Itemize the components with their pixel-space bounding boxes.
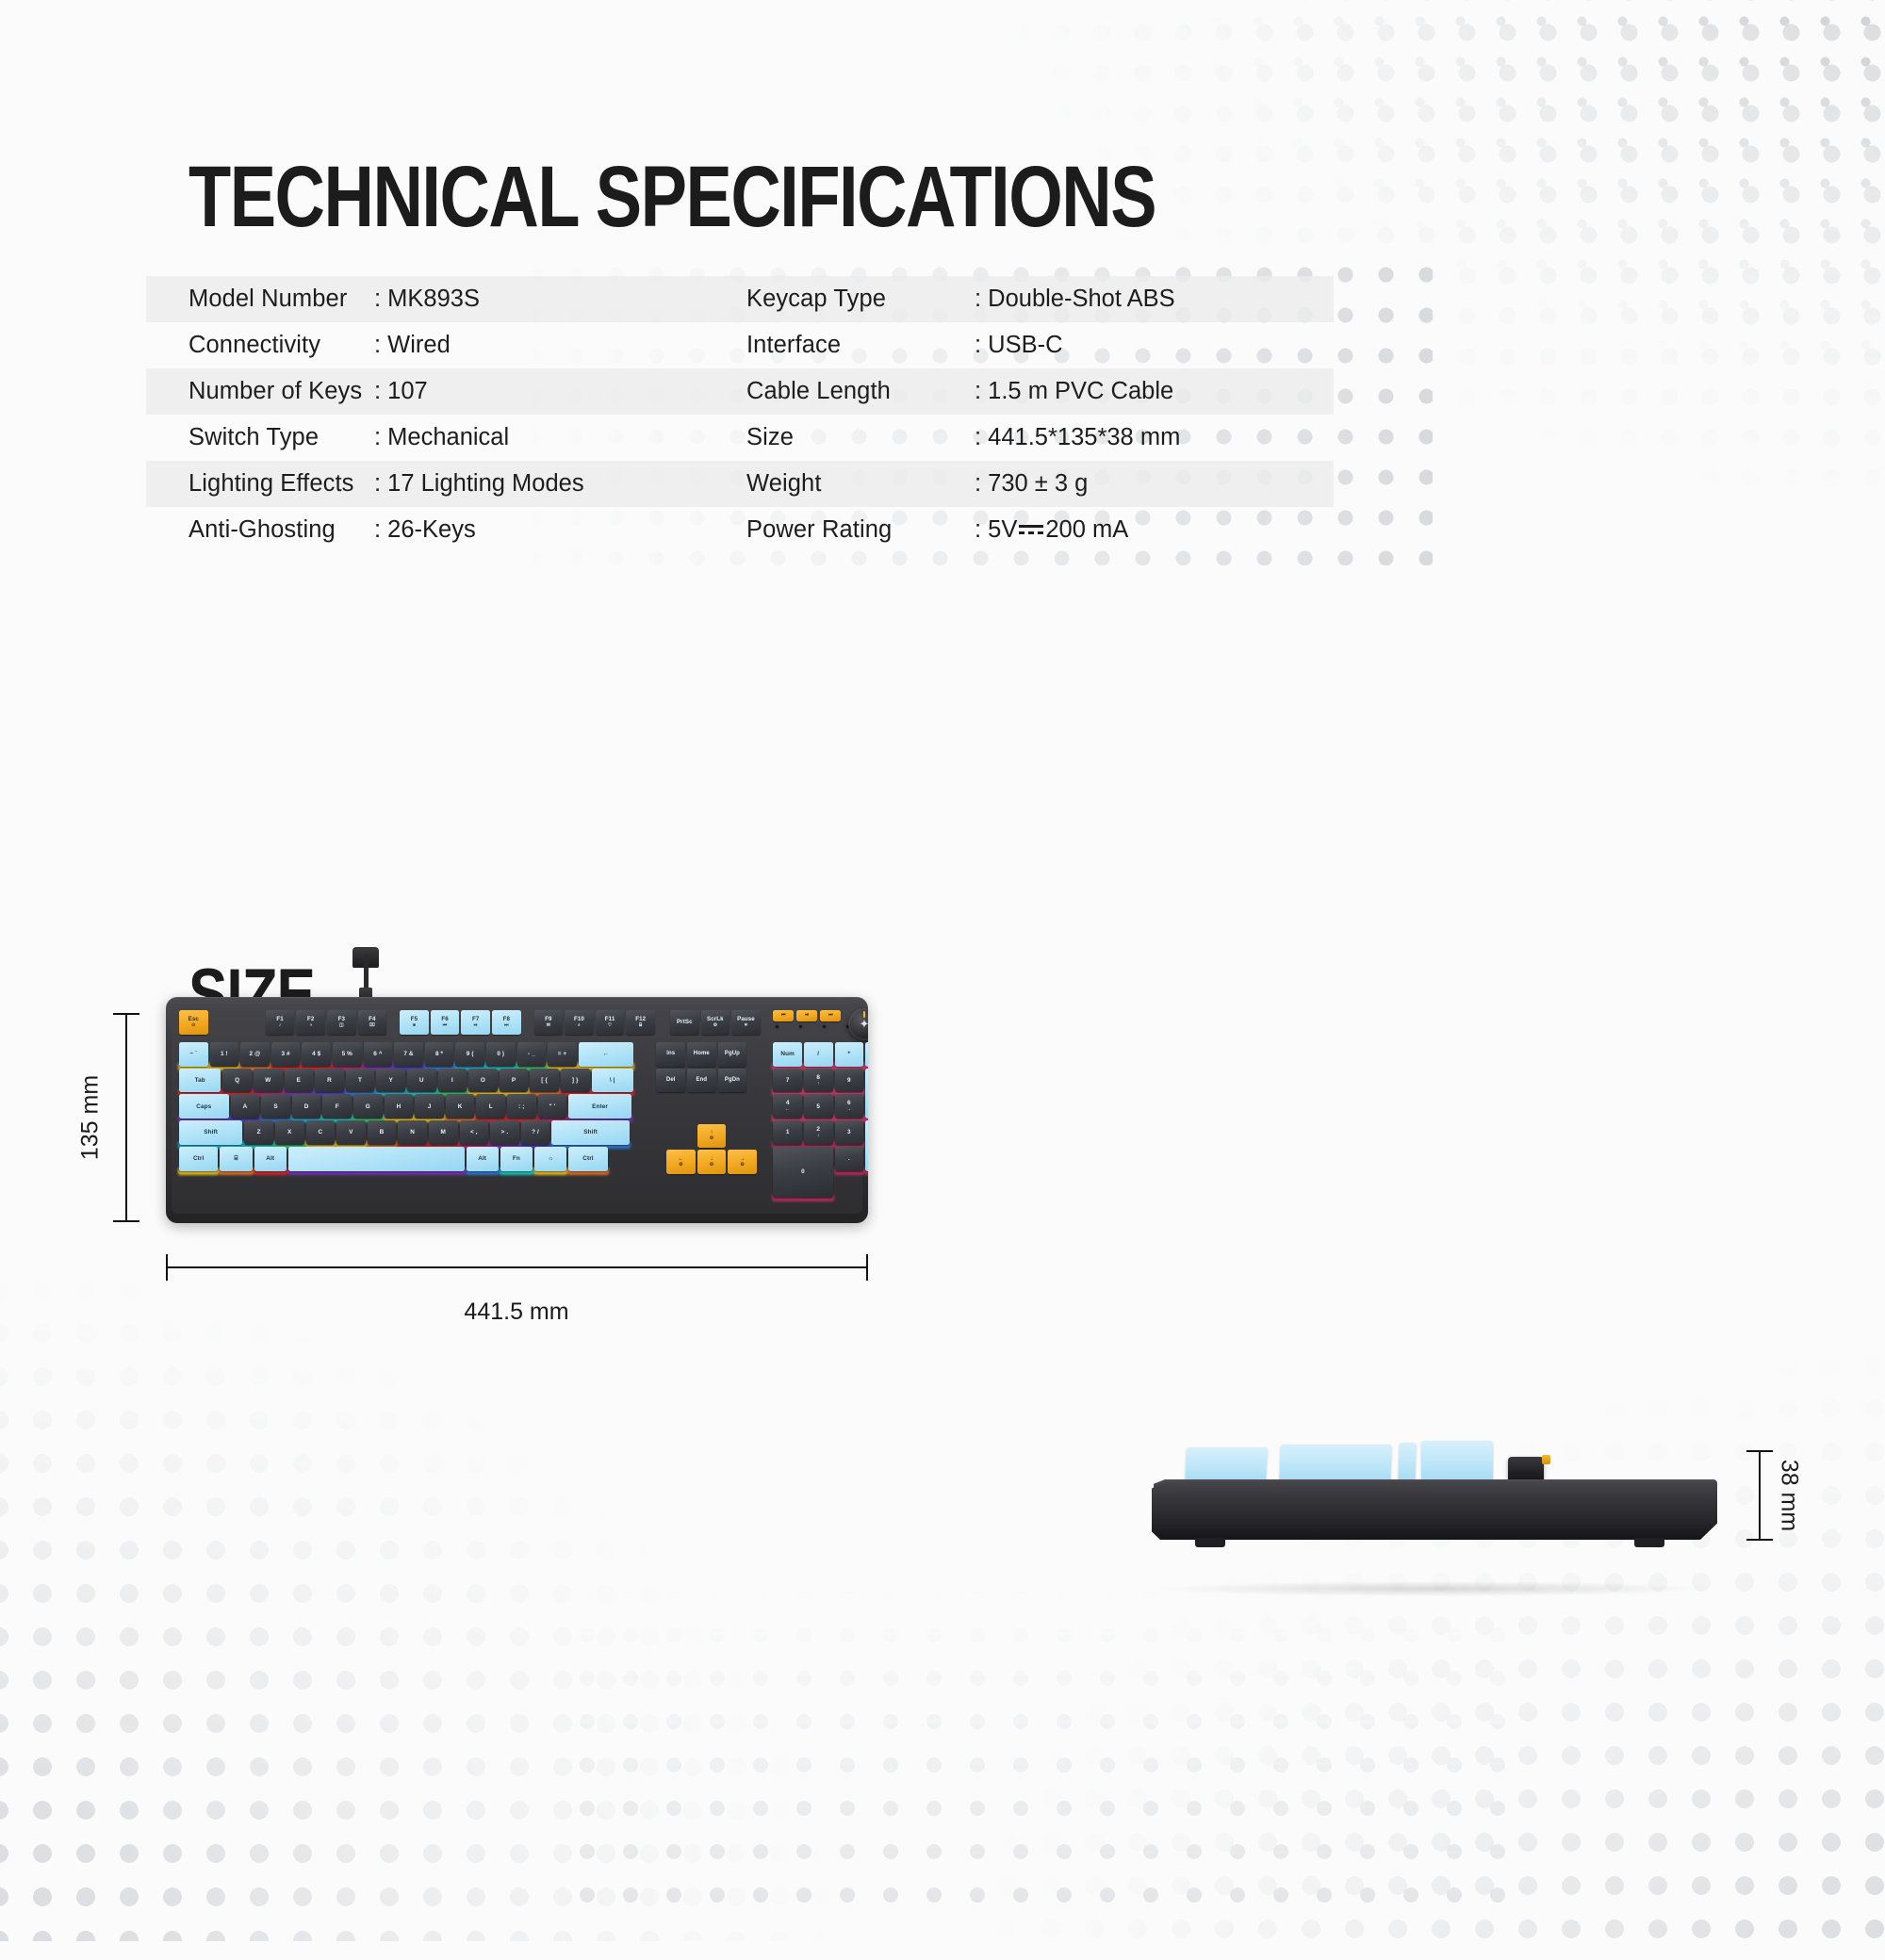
key-label: PgUp xyxy=(725,1051,740,1057)
dimension-label-width: 441.5 mm xyxy=(464,1298,568,1326)
key-label: ? / xyxy=(532,1129,539,1135)
keyboard-key: K xyxy=(446,1094,475,1119)
keyboard-chassis: Esc⊙F1♪F2◑F3◫F4⌧F5■F6⏮F7⏯F8⏭F9✉F10⌕F11♡F… xyxy=(166,997,868,1223)
keyboard-key: ☼ xyxy=(534,1147,566,1171)
key-label: Ins xyxy=(666,1051,675,1057)
key-label: 3 # xyxy=(282,1051,290,1057)
key-sublabel: ⌕ xyxy=(578,1023,581,1029)
keyboard-key: D xyxy=(292,1094,321,1119)
keyboard-key: W xyxy=(254,1069,283,1093)
side-view-shadow xyxy=(1161,1581,1708,1596)
key-label: \ | xyxy=(610,1077,615,1084)
keyboard-key: E xyxy=(285,1069,314,1093)
key-sublabel: ⚙ xyxy=(713,1023,718,1029)
spec-left-label: Connectivity xyxy=(146,322,374,368)
key-label: [ { xyxy=(541,1077,548,1084)
keyboard-key: U xyxy=(407,1069,436,1093)
key-label: ⌸ xyxy=(234,1155,238,1162)
keyboard-key: 5 xyxy=(804,1094,833,1119)
key-label: Caps xyxy=(196,1103,211,1110)
key-label: . xyxy=(848,1155,850,1162)
key-label: R xyxy=(327,1077,332,1084)
spec-right-value-text: : Double-Shot ABS xyxy=(975,286,1175,313)
key-sublabel: ◑ xyxy=(309,1023,312,1029)
keyboard-key: ↑⚙ xyxy=(697,1124,727,1149)
key-label: ⏭ xyxy=(828,1013,833,1019)
keyboard-key: Shift xyxy=(551,1120,630,1145)
side-keycap-4 xyxy=(1421,1441,1493,1484)
spec-right-value: : 1.5 m PVC Cable xyxy=(975,368,1286,415)
spec-left-label-text: Lighting Effects xyxy=(188,470,354,498)
keyboard-key: PgUp xyxy=(718,1042,747,1067)
keyboard-key: S xyxy=(261,1094,290,1119)
keyboard-key: 1 xyxy=(773,1120,802,1145)
key-sublabel: ⊙ xyxy=(191,1023,195,1029)
key-label: 9 ( xyxy=(467,1051,474,1057)
spec-right-label: Weight xyxy=(746,461,975,507)
spec-left-value: : MK893S xyxy=(374,276,746,322)
key-label: 7 xyxy=(786,1077,790,1084)
keyboard-key: B xyxy=(368,1120,397,1145)
volume-knob: ✦ xyxy=(848,1008,868,1040)
keyboard-key: T xyxy=(346,1069,375,1093)
keyboard-key: N xyxy=(398,1120,427,1145)
keyboard-key: > . xyxy=(490,1120,519,1145)
keyboard-base xyxy=(1152,1481,1717,1540)
key-label: Alt xyxy=(266,1155,274,1162)
keyboard-key: 0 ) xyxy=(486,1042,516,1067)
keyboard-key: / xyxy=(804,1042,833,1067)
key-label: 8 * xyxy=(435,1051,443,1057)
keyboard-top-view: Esc⊙F1♪F2◑F3◫F4⌧F5■F6⏮F7⏯F8⏭F9✉F10⌕F11♡F… xyxy=(166,997,868,1223)
keyboard-key: . xyxy=(835,1147,864,1171)
side-volume-knob xyxy=(1508,1457,1544,1483)
keyboard-key: 3 xyxy=(835,1120,864,1145)
keyboard-key: 0 xyxy=(773,1147,832,1198)
dc-power-icon xyxy=(1019,524,1043,537)
key-label: T xyxy=(358,1077,362,1084)
key-label: Fn xyxy=(513,1155,520,1162)
key-label: W xyxy=(265,1077,270,1084)
key-label: A xyxy=(243,1103,248,1110)
keyboard-key: A xyxy=(231,1094,260,1119)
keyboard-key: ? / xyxy=(521,1120,550,1145)
key-label: Num xyxy=(780,1051,795,1057)
keyboard-key: Z xyxy=(244,1120,273,1145)
keyboard-key: ScrLk⚙ xyxy=(701,1010,730,1035)
key-label: 1 xyxy=(786,1129,790,1135)
keyboard-key: F11♡ xyxy=(596,1010,625,1035)
page-title-technical-specifications: TECHNICAL SPECIFICATIONS xyxy=(188,154,1156,240)
key-label: 3 xyxy=(847,1129,851,1135)
key-sublabel: ↑ xyxy=(817,1082,820,1087)
key-sublabel: ⌗ xyxy=(745,1023,747,1029)
key-label: " ' xyxy=(549,1103,556,1110)
key-label: Shift xyxy=(204,1129,218,1135)
keyboard-key: + xyxy=(865,1069,868,1119)
key-sublabel: ◫ xyxy=(339,1023,344,1029)
keyboard-key: 6 ^ xyxy=(364,1042,393,1067)
keyboard-key: F1♪ xyxy=(266,1010,295,1035)
keyboard-key: ] } xyxy=(561,1069,590,1093)
key-sublabel: ⚙ xyxy=(740,1163,745,1168)
key-label: ⏮ xyxy=(781,1013,786,1019)
spec-right-value-text: : USB-C xyxy=(975,332,1063,359)
key-label: : ; xyxy=(518,1103,524,1110)
keyboard-key: ⏭ xyxy=(820,1010,841,1021)
key-sublabel: ⏮ xyxy=(443,1023,448,1029)
spec-right-value: : Double-Shot ABS xyxy=(975,276,1286,322)
key-label: I xyxy=(451,1077,453,1084)
key-label: S xyxy=(273,1103,277,1110)
specifications-table: Model Number: MK893SKeycap Type: Double-… xyxy=(146,276,1334,553)
key-sublabel: ♪ xyxy=(279,1023,282,1029)
key-label: H xyxy=(397,1103,402,1110)
keyboard-key: F xyxy=(322,1094,352,1119)
keyboard-key: 2 @ xyxy=(240,1042,270,1067)
keyboard-key: Fn xyxy=(500,1147,533,1171)
keyboard-foot-right xyxy=(1634,1538,1664,1547)
knob-indicator-icon xyxy=(863,1011,865,1018)
keyboard-key: Caps xyxy=(179,1094,229,1119)
keyboard-key: G xyxy=(353,1094,383,1119)
keyboard-key: C xyxy=(306,1120,336,1145)
key-label: Ctrl xyxy=(193,1155,204,1162)
key-label: Y xyxy=(388,1077,392,1084)
keyboard-key: " ' xyxy=(538,1094,567,1119)
spec-right-label: Power Rating xyxy=(746,507,975,553)
keyboard-key: 1 ! xyxy=(210,1042,239,1067)
spec-left-label: Switch Type xyxy=(146,415,374,461)
key-label: J xyxy=(428,1103,432,1110)
keyboard-key: Ins xyxy=(656,1042,685,1067)
spec-left-label: Lighting Effects xyxy=(146,461,374,507)
key-label: 1 ! xyxy=(221,1051,228,1057)
key-label: 4 $ xyxy=(312,1051,320,1057)
keyboard-key: Alt xyxy=(254,1147,287,1171)
keyboard-key: 7 & xyxy=(394,1042,423,1067)
keyboard-key: F8⏭ xyxy=(492,1010,521,1035)
spec-left-label-text: Anti-Ghosting xyxy=(188,516,336,544)
spec-right-value: : 441.5*135*38 mm xyxy=(975,415,1286,461)
key-label: PgDn xyxy=(725,1077,740,1084)
spec-right-label-text: Cable Length xyxy=(746,378,891,405)
keyboard-key: F7⏯ xyxy=(461,1010,490,1035)
key-label: > . xyxy=(501,1129,509,1135)
spec-row: Number of Keys: 107Cable Length: 1.5 m P… xyxy=(146,368,1334,415)
keyboard-key: = + xyxy=(548,1042,577,1067)
keyboard-key: F2◑ xyxy=(296,1010,325,1035)
key-sublabel: ♡ xyxy=(608,1023,613,1029)
key-label: N xyxy=(410,1129,415,1135)
side-knob-accent xyxy=(1542,1455,1550,1464)
keyboard-key: 9 ( xyxy=(455,1042,484,1067)
keyboard-key: Ctrl xyxy=(568,1147,607,1171)
key-label: 0 ) xyxy=(497,1051,504,1057)
keyboard-key: Alt xyxy=(467,1147,499,1171)
spec-right-label-text: Weight xyxy=(746,470,822,498)
keyboard-key: - _ xyxy=(517,1042,547,1067)
spec-right-value-text: : 730 ± 3 g xyxy=(975,470,1088,498)
key-label: ~ ` xyxy=(189,1051,197,1057)
spec-left-label-text: Connectivity xyxy=(188,332,320,359)
keyboard-key: Shift xyxy=(179,1120,242,1145)
keyboard-key: 6→ xyxy=(835,1094,864,1119)
keyboard-key: R xyxy=(315,1069,344,1093)
key-label: Shift xyxy=(583,1129,598,1135)
key-label: Home xyxy=(694,1051,710,1057)
key-label: PrtSc xyxy=(677,1019,693,1025)
keyboard-key: Num xyxy=(773,1042,802,1067)
dimension-label-height: 135 mm xyxy=(77,1075,105,1160)
spec-left-label: Number of Keys xyxy=(146,368,374,415)
key-label: Z xyxy=(257,1129,261,1135)
spec-left-label: Model Number xyxy=(146,276,374,322)
spec-row: Lighting Effects: 17 Lighting ModesWeigh… xyxy=(146,461,1334,507)
spec-row: Anti-Ghosting: 26-KeysPower Rating: 5V20… xyxy=(146,507,1334,553)
spec-left-value: : 26-Keys xyxy=(374,507,746,553)
keyboard-key: ↓⚙ xyxy=(697,1150,727,1174)
spec-left-label-text: Model Number xyxy=(188,286,347,313)
key-label: 0 xyxy=(801,1168,805,1175)
key-label: ⏯ xyxy=(805,1013,809,1019)
key-label: M xyxy=(440,1129,445,1135)
keyboard-key: P xyxy=(500,1069,529,1093)
keyboard-key: I xyxy=(438,1069,467,1093)
key-label: ☼ xyxy=(548,1155,553,1162)
key-sublabel: ← xyxy=(785,1107,790,1113)
keyboard-foot-left xyxy=(1195,1538,1225,1547)
spec-left-label-text: Switch Type xyxy=(188,424,319,451)
keyboard-key: F12⌸ xyxy=(626,1010,655,1035)
side-keycap-3 xyxy=(1398,1443,1417,1484)
keyboard-plate: Esc⊙F1♪F2◑F3◫F4⌧F5■F6⏮F7⏯F8⏭F9✉F10⌕F11♡F… xyxy=(172,1004,862,1214)
key-sublabel: ■ xyxy=(413,1023,416,1029)
dimension-label-depth: 38 mm xyxy=(1776,1460,1803,1531)
keyboard-key: ←⚙ xyxy=(666,1150,696,1174)
keyboard-key: V xyxy=(336,1120,366,1145)
keyboard-key: F3◫ xyxy=(327,1010,356,1035)
keyboard-key: Enter xyxy=(568,1094,631,1119)
spec-left-value-text: : 26-Keys xyxy=(374,516,476,544)
keyboard-key: Ctrl xyxy=(179,1147,218,1171)
spec-right-label: Keycap Type xyxy=(746,276,975,322)
keyboard-key: →⚙ xyxy=(728,1150,757,1174)
key-label: End xyxy=(696,1077,707,1084)
key-label: Del xyxy=(666,1077,676,1084)
keyboard-key: Pause⌗ xyxy=(731,1010,761,1035)
keyboard-key: 4 $ xyxy=(302,1042,331,1067)
keyboard-key: : ; xyxy=(507,1094,536,1119)
spec-left-value-text: : 107 xyxy=(374,378,428,405)
keyboard-key: * xyxy=(835,1042,864,1067)
keyboard-key: 8 * xyxy=(425,1042,454,1067)
keyboard-key: End xyxy=(687,1069,716,1093)
keyboard-key: M xyxy=(429,1120,458,1145)
keyboard-key: L xyxy=(476,1094,505,1119)
spec-left-value: : 17 Lighting Modes xyxy=(374,461,746,507)
keyboard-key: F10⌕ xyxy=(565,1010,594,1035)
keyboard-key: X xyxy=(275,1120,304,1145)
keyboard-key: 8↑ xyxy=(804,1069,833,1093)
key-label: Tab xyxy=(195,1077,205,1084)
keyboard-key: Del xyxy=(656,1069,685,1093)
key-label: Q xyxy=(235,1077,239,1084)
keyboard-key: H xyxy=(385,1094,414,1119)
keyboard-key: ⌸ xyxy=(220,1147,252,1171)
keyboard-key: Home xyxy=(687,1042,716,1067)
status-led xyxy=(776,1025,779,1028)
spec-right-label: Cable Length xyxy=(746,368,975,415)
keyboard-key xyxy=(288,1147,465,1171)
key-label: * xyxy=(848,1051,851,1057)
keyboard-key: PgDn xyxy=(718,1069,747,1093)
keyboard-key: PrtSc xyxy=(670,1010,699,1035)
spec-right-value-text: : 1.5 m PVC Cable xyxy=(975,378,1173,405)
spec-right-label-text: Keycap Type xyxy=(746,286,886,313)
key-sublabel: ⌧ xyxy=(369,1023,375,1029)
dimension-line-width xyxy=(166,1266,868,1268)
keyboard-key: O xyxy=(468,1069,498,1093)
key-label: = + xyxy=(558,1051,567,1057)
spec-right-label: Interface xyxy=(746,322,975,368)
key-label: 6 ^ xyxy=(373,1051,382,1057)
dimension-line-height xyxy=(125,1013,127,1222)
spec-row: Connectivity: WiredInterface: USB-C xyxy=(146,322,1334,368)
key-label: 5 % xyxy=(342,1051,352,1057)
key-sublabel: ⚙ xyxy=(710,1163,714,1168)
key-label: F xyxy=(336,1103,339,1110)
key-label: / xyxy=(817,1051,819,1057)
keyboard-key: - xyxy=(865,1042,868,1067)
spec-left-value-text: : Mechanical xyxy=(374,424,509,451)
spec-row: Switch Type: MechanicalSize: 441.5*135*3… xyxy=(146,415,1334,461)
keyboard-key: F4⌧ xyxy=(358,1010,387,1035)
key-label: 8 xyxy=(816,1074,820,1081)
spec-right-label-text: Power Rating xyxy=(746,516,892,544)
spec-right-value: : 5V200 mA xyxy=(975,507,1286,553)
spec-right-label-text: Interface xyxy=(746,332,841,359)
key-label: K xyxy=(458,1103,463,1110)
keyboard-key: ← xyxy=(579,1042,633,1067)
key-sublabel: ⌸ xyxy=(639,1023,642,1029)
spec-left-value-text: : Wired xyxy=(374,332,451,359)
key-label: 2 @ xyxy=(250,1051,261,1057)
keyboard-key: 5 % xyxy=(333,1042,362,1067)
keyboard-key: ⏮ xyxy=(773,1010,794,1021)
key-label: E xyxy=(297,1077,301,1084)
keyboard-key: ⏯ xyxy=(796,1010,817,1021)
spec-row: Model Number: MK893SKeycap Type: Double-… xyxy=(146,276,1334,322)
keyboard-key: Enter xyxy=(865,1120,868,1171)
key-label: - _ xyxy=(528,1051,535,1057)
key-label: C xyxy=(318,1129,322,1135)
fantech-logo-icon: ✦ xyxy=(859,1017,868,1032)
keyboard-key: Tab xyxy=(179,1069,221,1093)
spec-left-value-text: : MK893S xyxy=(374,286,480,313)
key-label: L xyxy=(489,1103,493,1110)
keyboard-key: F5■ xyxy=(400,1010,429,1035)
keyboard-key: ~ ` xyxy=(179,1042,208,1067)
keyboard-key: [ { xyxy=(530,1069,559,1093)
key-sublabel: ✉ xyxy=(547,1023,550,1029)
key-label: ] } xyxy=(572,1077,579,1084)
keyboard-key: 9 xyxy=(835,1069,864,1093)
key-sublabel: ⚙ xyxy=(710,1136,714,1142)
key-label: ← xyxy=(603,1051,610,1057)
key-label: U xyxy=(419,1077,424,1084)
key-label: O xyxy=(481,1077,485,1084)
side-keycap-2 xyxy=(1279,1445,1391,1484)
spec-left-value: : 107 xyxy=(374,368,746,415)
key-sublabel: ⏯ xyxy=(474,1023,478,1029)
key-label: 5 xyxy=(816,1103,820,1110)
key-label: < , xyxy=(470,1129,478,1135)
key-label: 7 & xyxy=(403,1051,413,1057)
key-label: Ctrl xyxy=(582,1155,593,1162)
key-sublabel: ⏭ xyxy=(504,1023,509,1029)
keyboard-key: 3 # xyxy=(271,1042,301,1067)
key-label: Enter xyxy=(592,1103,608,1110)
keyboard-key: < , xyxy=(460,1120,489,1145)
keyboard-key: F6⏮ xyxy=(431,1010,460,1035)
spec-right-value-suffix: 200 mA xyxy=(1045,516,1128,544)
status-led xyxy=(799,1025,802,1028)
key-sublabel: ↓ xyxy=(817,1134,820,1139)
spec-left-value: : Mechanical xyxy=(374,415,746,461)
keyboard-key: 4← xyxy=(773,1094,802,1119)
spec-right-label-text: Size xyxy=(746,424,794,451)
key-label: V xyxy=(349,1129,352,1135)
keyboard-key: J xyxy=(415,1094,444,1119)
keyboard-key: 2↓ xyxy=(804,1120,833,1145)
spec-right-value: : 730 ± 3 g xyxy=(975,461,1286,507)
key-sublabel: → xyxy=(846,1107,851,1113)
keyboard-key: F9✉ xyxy=(534,1010,564,1035)
status-led xyxy=(823,1025,826,1028)
keyboard-key: Q xyxy=(222,1069,252,1093)
key-label: B xyxy=(380,1129,385,1135)
key-label: G xyxy=(366,1103,370,1110)
spec-right-value-prefix: : 5V xyxy=(975,516,1017,544)
key-label: 9 xyxy=(847,1077,851,1084)
key-label: P xyxy=(512,1077,516,1084)
spec-right-label: Size xyxy=(746,415,975,461)
keyboard-key: Esc⊙ xyxy=(179,1010,208,1035)
spec-left-value: : Wired xyxy=(374,322,746,368)
keyboard-key: \ | xyxy=(592,1069,633,1093)
spec-left-label: Anti-Ghosting xyxy=(146,507,374,553)
key-label: X xyxy=(287,1129,291,1135)
keyboard-key: 7 xyxy=(773,1069,802,1093)
key-sublabel: ⚙ xyxy=(679,1163,683,1168)
spec-right-value: : USB-C xyxy=(975,322,1286,368)
key-label: D xyxy=(304,1103,309,1110)
keyboard-key: Y xyxy=(376,1069,405,1093)
spec-left-label-text: Number of Keys xyxy=(188,378,362,405)
key-label: Alt xyxy=(478,1155,486,1162)
keyboard-side-view xyxy=(1152,1413,1736,1583)
dimension-line-depth xyxy=(1759,1450,1761,1541)
spec-right-value-text: : 441.5*135*38 mm xyxy=(975,424,1180,451)
spec-left-value-text: : 17 Lighting Modes xyxy=(374,470,584,498)
